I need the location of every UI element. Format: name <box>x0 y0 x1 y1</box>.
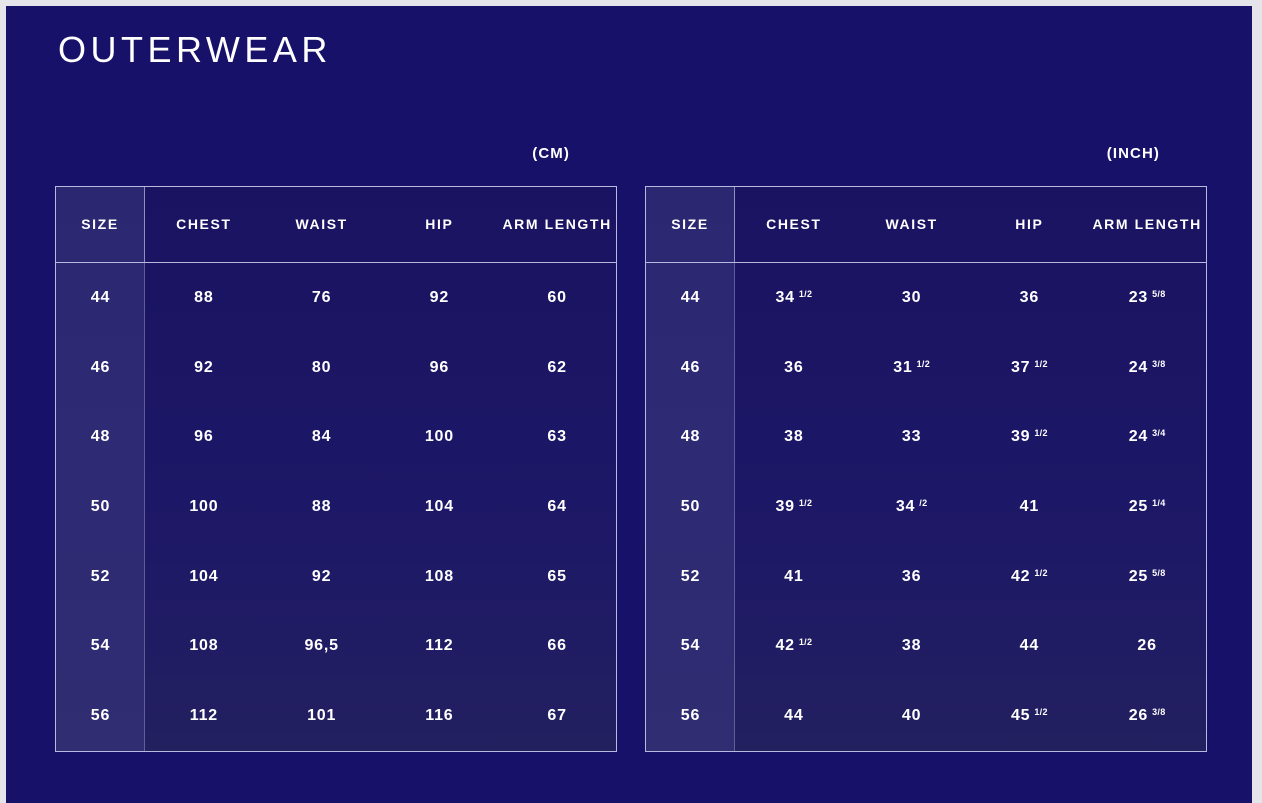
cell-chest: 341/2 <box>735 289 853 307</box>
value-whole: 44 <box>1020 637 1039 655</box>
value-whole: 88 <box>312 498 331 516</box>
cell-waist: 96,5 <box>263 637 381 655</box>
cell-hip: 100 <box>381 428 499 446</box>
cell-arm-length: 26 <box>1088 637 1206 655</box>
cell-size: 50 <box>56 498 145 516</box>
table-row: 521049210865 <box>56 542 616 612</box>
cell-arm-length: 67 <box>498 707 616 725</box>
cell-chest: 391/2 <box>735 498 853 516</box>
table-row: 564440451/2263/8 <box>646 681 1206 751</box>
cell-hip: 371/2 <box>971 359 1089 377</box>
column-header-chest: CHEST <box>735 187 853 262</box>
value-whole: 38 <box>902 637 921 655</box>
cell-size: 56 <box>56 707 145 725</box>
table-row: 54421/2384426 <box>646 612 1206 682</box>
cell-waist: 30 <box>853 289 971 307</box>
column-header-hip: HIP <box>381 187 499 262</box>
cell-hip: 112 <box>381 637 499 655</box>
value-whole: 41 <box>1020 498 1039 516</box>
value-whole: 80 <box>312 359 331 377</box>
cell-size: 56 <box>646 707 735 725</box>
table-row: 5611210111667 <box>56 681 616 751</box>
value-whole: 66 <box>547 637 566 655</box>
cell-size: 52 <box>646 568 735 586</box>
value-fraction: 1/2 <box>1034 359 1047 369</box>
unit-label-inch: (INCH) <box>6 145 1160 162</box>
value-whole: 100 <box>425 428 454 446</box>
cell-hip: 116 <box>381 707 499 725</box>
value-whole: 36 <box>784 359 803 377</box>
page-title: OUTERWEAR <box>58 32 332 68</box>
cell-waist: 88 <box>263 498 381 516</box>
value-whole: 64 <box>547 498 566 516</box>
cell-chest: 44 <box>735 707 853 725</box>
cell-arm-length: 235/8 <box>1088 289 1206 307</box>
value-whole: 60 <box>547 289 566 307</box>
value-whole: 112 <box>190 707 218 725</box>
table-row: 4636311/2371/2243/8 <box>646 333 1206 403</box>
value-whole: 96 <box>194 428 213 446</box>
cell-hip: 391/2 <box>971 428 1089 446</box>
column-header-waist: WAIST <box>263 187 381 262</box>
value-whole: 84 <box>312 428 331 446</box>
column-header-size: SIZE <box>646 187 735 262</box>
value-whole: 116 <box>425 707 453 725</box>
value-whole: 104 <box>189 568 218 586</box>
cell-waist: 84 <box>263 428 381 446</box>
value-fraction: /2 <box>919 498 927 508</box>
cell-size: 54 <box>646 637 735 655</box>
cell-hip: 421/2 <box>971 568 1089 586</box>
table-row: 50391/234/241251/4 <box>646 472 1206 542</box>
value-fraction: 5/8 <box>1152 568 1165 578</box>
size-chart-panel: OUTERWEAR (CM) (INCH) SIZE CHEST WAIST H… <box>6 6 1252 803</box>
value-whole: 108 <box>425 568 454 586</box>
value-fraction: 3/4 <box>1152 428 1165 438</box>
table-header-row-cm: SIZE CHEST WAIST HIP ARM LENGTH <box>56 187 616 263</box>
column-header-arm-length: ARM LENGTH <box>498 187 616 262</box>
value-whole: 112 <box>425 637 453 655</box>
value-whole: 40 <box>902 707 921 725</box>
value-whole: 76 <box>312 289 331 307</box>
cell-arm-length: 60 <box>498 289 616 307</box>
cell-waist: 34/2 <box>853 498 971 516</box>
table-row: 44341/23036235/8 <box>646 263 1206 333</box>
cell-waist: 101 <box>263 707 381 725</box>
cell-size: 48 <box>646 428 735 446</box>
column-header-hip: HIP <box>971 187 1089 262</box>
value-fraction: 1/2 <box>1034 707 1047 717</box>
table-body-inch: 44341/23036235/84636311/2371/2243/848383… <box>646 263 1206 751</box>
cell-chest: 112 <box>145 707 263 725</box>
cell-arm-length: 263/8 <box>1088 707 1206 725</box>
cell-arm-length: 243/8 <box>1088 359 1206 377</box>
value-whole: 100 <box>189 498 218 516</box>
value-whole: 41 <box>784 568 803 586</box>
column-header-size: SIZE <box>56 187 145 262</box>
value-whole: 36 <box>1020 289 1039 307</box>
value-whole: 96,5 <box>304 637 338 655</box>
cell-arm-length: 64 <box>498 498 616 516</box>
cell-chest: 96 <box>145 428 263 446</box>
value-whole: 31 <box>893 359 912 377</box>
cell-waist: 311/2 <box>853 359 971 377</box>
value-fraction: 1/2 <box>917 359 930 369</box>
table-row: 4488769260 <box>56 263 616 333</box>
cell-hip: 96 <box>381 359 499 377</box>
value-fraction: 5/8 <box>1152 289 1165 299</box>
cell-arm-length: 62 <box>498 359 616 377</box>
column-header-chest: CHEST <box>145 187 263 262</box>
value-whole: 88 <box>194 289 213 307</box>
value-whole: 108 <box>189 637 218 655</box>
value-whole: 104 <box>425 498 454 516</box>
cell-arm-length: 251/4 <box>1088 498 1206 516</box>
cell-hip: 92 <box>381 289 499 307</box>
table-row: 524136421/2255/8 <box>646 542 1206 612</box>
cell-hip: 41 <box>971 498 1089 516</box>
table-row: 483833391/2243/4 <box>646 402 1206 472</box>
cell-hip: 108 <box>381 568 499 586</box>
value-whole: 38 <box>784 428 803 446</box>
table-row: 48968410063 <box>56 402 616 472</box>
cell-size: 52 <box>56 568 145 586</box>
cell-chest: 36 <box>735 359 853 377</box>
value-whole: 34 <box>896 498 915 516</box>
cell-arm-length: 243/4 <box>1088 428 1206 446</box>
value-whole: 92 <box>312 568 331 586</box>
value-whole: 26 <box>1129 707 1148 725</box>
cell-waist: 80 <box>263 359 381 377</box>
value-whole: 45 <box>1011 707 1030 725</box>
value-fraction: 1/4 <box>1152 498 1165 508</box>
value-whole: 34 <box>775 289 794 307</box>
cell-arm-length: 66 <box>498 637 616 655</box>
cell-chest: 41 <box>735 568 853 586</box>
cell-chest: 100 <box>145 498 263 516</box>
table-row: 4692809662 <box>56 333 616 403</box>
value-fraction: 1/2 <box>1034 428 1047 438</box>
cell-arm-length: 65 <box>498 568 616 586</box>
cell-hip: 44 <box>971 637 1089 655</box>
value-whole: 23 <box>1129 289 1148 307</box>
table-header-row-inch: SIZE CHEST WAIST HIP ARM LENGTH <box>646 187 1206 263</box>
value-whole: 92 <box>430 289 449 307</box>
value-fraction: 1/2 <box>799 498 812 508</box>
value-whole: 44 <box>784 707 803 725</box>
cell-waist: 38 <box>853 637 971 655</box>
cell-hip: 36 <box>971 289 1089 307</box>
column-header-waist: WAIST <box>853 187 971 262</box>
cell-waist: 92 <box>263 568 381 586</box>
cell-chest: 38 <box>735 428 853 446</box>
cell-waist: 36 <box>853 568 971 586</box>
value-whole: 25 <box>1129 568 1148 586</box>
value-fraction: 3/8 <box>1152 707 1165 717</box>
value-fraction: 3/8 <box>1152 359 1165 369</box>
cell-size: 50 <box>646 498 735 516</box>
table-body-cm: 4488769260469280966248968410063501008810… <box>56 263 616 751</box>
cell-size: 46 <box>646 359 735 377</box>
table-row: 501008810464 <box>56 472 616 542</box>
cell-size: 44 <box>646 289 735 307</box>
value-whole: 62 <box>547 359 566 377</box>
value-whole: 36 <box>902 568 921 586</box>
value-whole: 63 <box>547 428 566 446</box>
cell-chest: 92 <box>145 359 263 377</box>
cell-hip: 104 <box>381 498 499 516</box>
value-whole: 39 <box>775 498 794 516</box>
value-whole: 96 <box>430 359 449 377</box>
cell-chest: 421/2 <box>735 637 853 655</box>
value-whole: 37 <box>1011 359 1030 377</box>
table-row: 5410896,511266 <box>56 612 616 682</box>
value-whole: 67 <box>547 707 566 725</box>
cell-chest: 108 <box>145 637 263 655</box>
cell-waist: 76 <box>263 289 381 307</box>
value-whole: 33 <box>902 428 921 446</box>
cell-hip: 451/2 <box>971 707 1089 725</box>
cell-arm-length: 63 <box>498 428 616 446</box>
value-fraction: 1/2 <box>799 289 812 299</box>
value-fraction: 1/2 <box>1034 568 1047 578</box>
size-table-inch: SIZE CHEST WAIST HIP ARM LENGTH 44341/23… <box>645 186 1207 752</box>
value-whole: 30 <box>902 289 921 307</box>
value-whole: 42 <box>1011 568 1030 586</box>
cell-arm-length: 255/8 <box>1088 568 1206 586</box>
value-fraction: 1/2 <box>799 637 812 647</box>
size-table-cm: SIZE CHEST WAIST HIP ARM LENGTH 44887692… <box>55 186 617 752</box>
cell-size: 48 <box>56 428 145 446</box>
value-whole: 92 <box>194 359 213 377</box>
cell-chest: 88 <box>145 289 263 307</box>
value-whole: 26 <box>1137 637 1156 655</box>
cell-chest: 104 <box>145 568 263 586</box>
value-whole: 101 <box>307 707 336 725</box>
value-whole: 65 <box>547 568 566 586</box>
cell-waist: 33 <box>853 428 971 446</box>
value-whole: 25 <box>1129 498 1148 516</box>
value-whole: 42 <box>775 637 794 655</box>
value-whole: 39 <box>1011 428 1030 446</box>
value-whole: 24 <box>1129 428 1148 446</box>
cell-size: 44 <box>56 289 145 307</box>
cell-waist: 40 <box>853 707 971 725</box>
cell-size: 54 <box>56 637 145 655</box>
column-header-arm-length: ARM LENGTH <box>1088 187 1206 262</box>
value-whole: 24 <box>1129 359 1148 377</box>
cell-size: 46 <box>56 359 145 377</box>
